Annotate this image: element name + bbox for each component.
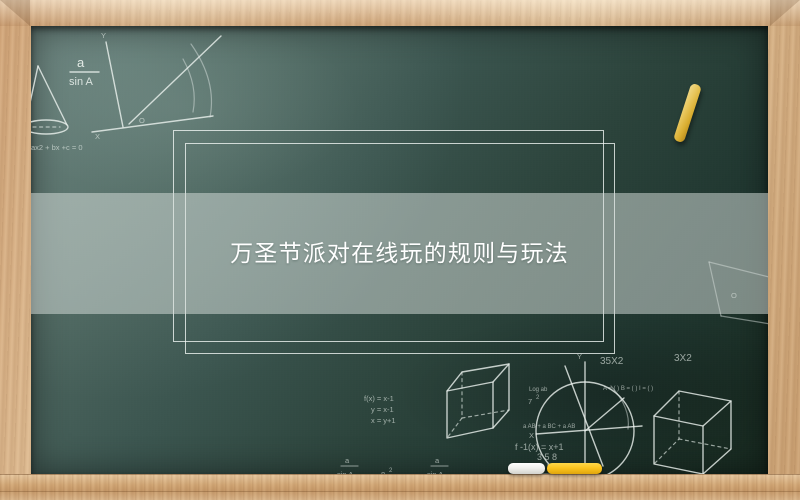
chalk-log-small: Log ab: [529, 387, 548, 393]
chalk-fx-line2: y = x-1: [371, 405, 394, 414]
frame-corner-top-right: [770, 0, 800, 26]
chalk-angle-o-label: O: [139, 116, 145, 125]
chalk-label-o-right: O: [731, 291, 737, 300]
cone-diagram: [31, 66, 68, 134]
chalk-series-note: a AB + a BC + a AB: [523, 424, 575, 430]
chalk-formula-a: a: [77, 55, 85, 70]
chalk-sine-a-1: a: [345, 456, 350, 465]
chalkboard-banner-screen: a sin A Y X O ax2 + bx +c = 0: [0, 0, 800, 500]
white-chalk-piece-icon: [508, 463, 545, 474]
chalk-fx-line1: f(x) = x-1: [364, 394, 394, 403]
chalkboard-surface: a sin A Y X O ax2 + bx +c = 0: [31, 26, 768, 474]
yellow-chalk-stick-icon: [673, 83, 702, 143]
chalk-fx-line3: x = y+1: [371, 416, 396, 425]
cube-wireframe-right: [654, 391, 731, 474]
decorative-outer-rectangle: [173, 130, 604, 342]
chalk-quadratic: ax2 + bx +c = 0: [31, 143, 83, 152]
cube-wireframe-center: [447, 364, 509, 438]
frame-top-highlight: [0, 0, 800, 26]
chalk-axis-y-label: Y: [101, 31, 106, 40]
yellow-chalk-piece-icon: [547, 463, 602, 474]
board-smudge: [31, 26, 768, 474]
chalk-inverse-fn: f -1(x) = x+1: [515, 442, 564, 452]
chalk-mult-1: 35X2: [600, 356, 624, 367]
decorative-inner-rectangle: [185, 143, 615, 354]
chalk-sine-a-2: a: [435, 456, 440, 465]
chalk-drawings-layer: a sin A Y X O ax2 + bx +c = 0: [31, 26, 768, 474]
angle-sketch-right: O: [709, 262, 768, 326]
chalk-axis-x-label: X: [95, 132, 100, 141]
chalk-circle-axis-x: X: [529, 431, 534, 440]
chalk-formula-sina: sin A: [69, 76, 94, 88]
chalk-sum-row1: 3 5 8: [537, 452, 557, 462]
circle-sector-diagram: Y X: [529, 352, 642, 474]
frame-corner-top-left: [0, 0, 30, 26]
chalk-circle-axis-y: Y: [577, 352, 582, 361]
chalk-mult-2: 3X2: [674, 353, 692, 364]
chalk-ledge: [0, 474, 800, 500]
chalk-power-seven: 7: [528, 397, 532, 406]
chalk-power-seven-exp: 2: [536, 395, 540, 401]
ledge-grain-line: [0, 491, 800, 492]
board-texture: [31, 26, 768, 474]
angle-diagram-top-left: Y X O: [92, 31, 221, 141]
chalk-matrix-row: A = ( ) B = ( ) I = ( ): [603, 386, 653, 392]
page-title: 万圣节派对在线玩的规则与玩法: [230, 239, 569, 269]
title-band: 万圣节派对在线玩的规则与玩法: [31, 193, 768, 314]
